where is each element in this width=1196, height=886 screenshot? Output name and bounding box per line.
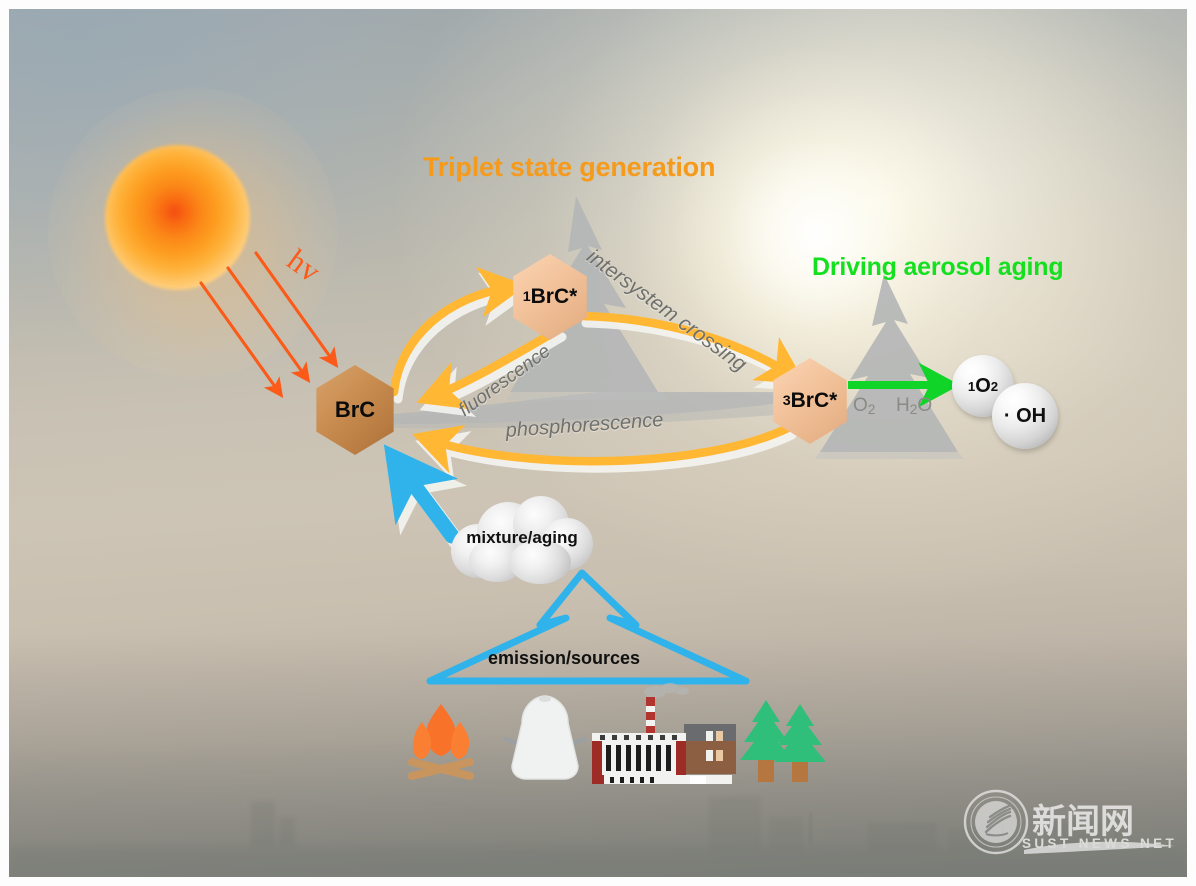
- emission-sources-label: emission/sources: [488, 648, 640, 669]
- aerosol-aging-heading: Driving aerosol aging: [812, 253, 1063, 282]
- campfire-icon: [412, 704, 470, 776]
- figure-canvas: hv: [0, 0, 1196, 886]
- brc-ground-state-label: BrC: [313, 365, 397, 455]
- water-reactant-label: H2O: [896, 395, 932, 417]
- oxygen-reactant-label: O2: [853, 395, 875, 417]
- hydroxyl-radical-sphere[interactable]: · OH: [992, 383, 1058, 449]
- brc-ground-state-node[interactable]: BrC: [313, 365, 397, 455]
- brc-singlet-node[interactable]: 1BrC*: [510, 254, 590, 340]
- hydroxyl-radical-label: · OH: [992, 383, 1058, 449]
- trees-icon: [740, 700, 826, 782]
- brc-triplet-node[interactable]: 3BrC*: [770, 358, 850, 444]
- brc-singlet-label: 1BrC*: [510, 254, 590, 340]
- vehicle-icon: [505, 696, 585, 779]
- mixture-aging-cloud[interactable]: mixture/aging: [447, 494, 597, 586]
- triplet-generation-heading: Triplet state generation: [423, 152, 715, 183]
- watermark-latin: SUST NEWS NET: [1022, 836, 1174, 851]
- cloud-label: mixture/aging: [447, 528, 597, 548]
- university-seal: [965, 791, 1027, 853]
- factory-icon: [592, 683, 736, 784]
- brc-triplet-label: 3BrC*: [770, 358, 850, 444]
- watermark: 新闻网 SUST NEWS NET: [962, 788, 1178, 872]
